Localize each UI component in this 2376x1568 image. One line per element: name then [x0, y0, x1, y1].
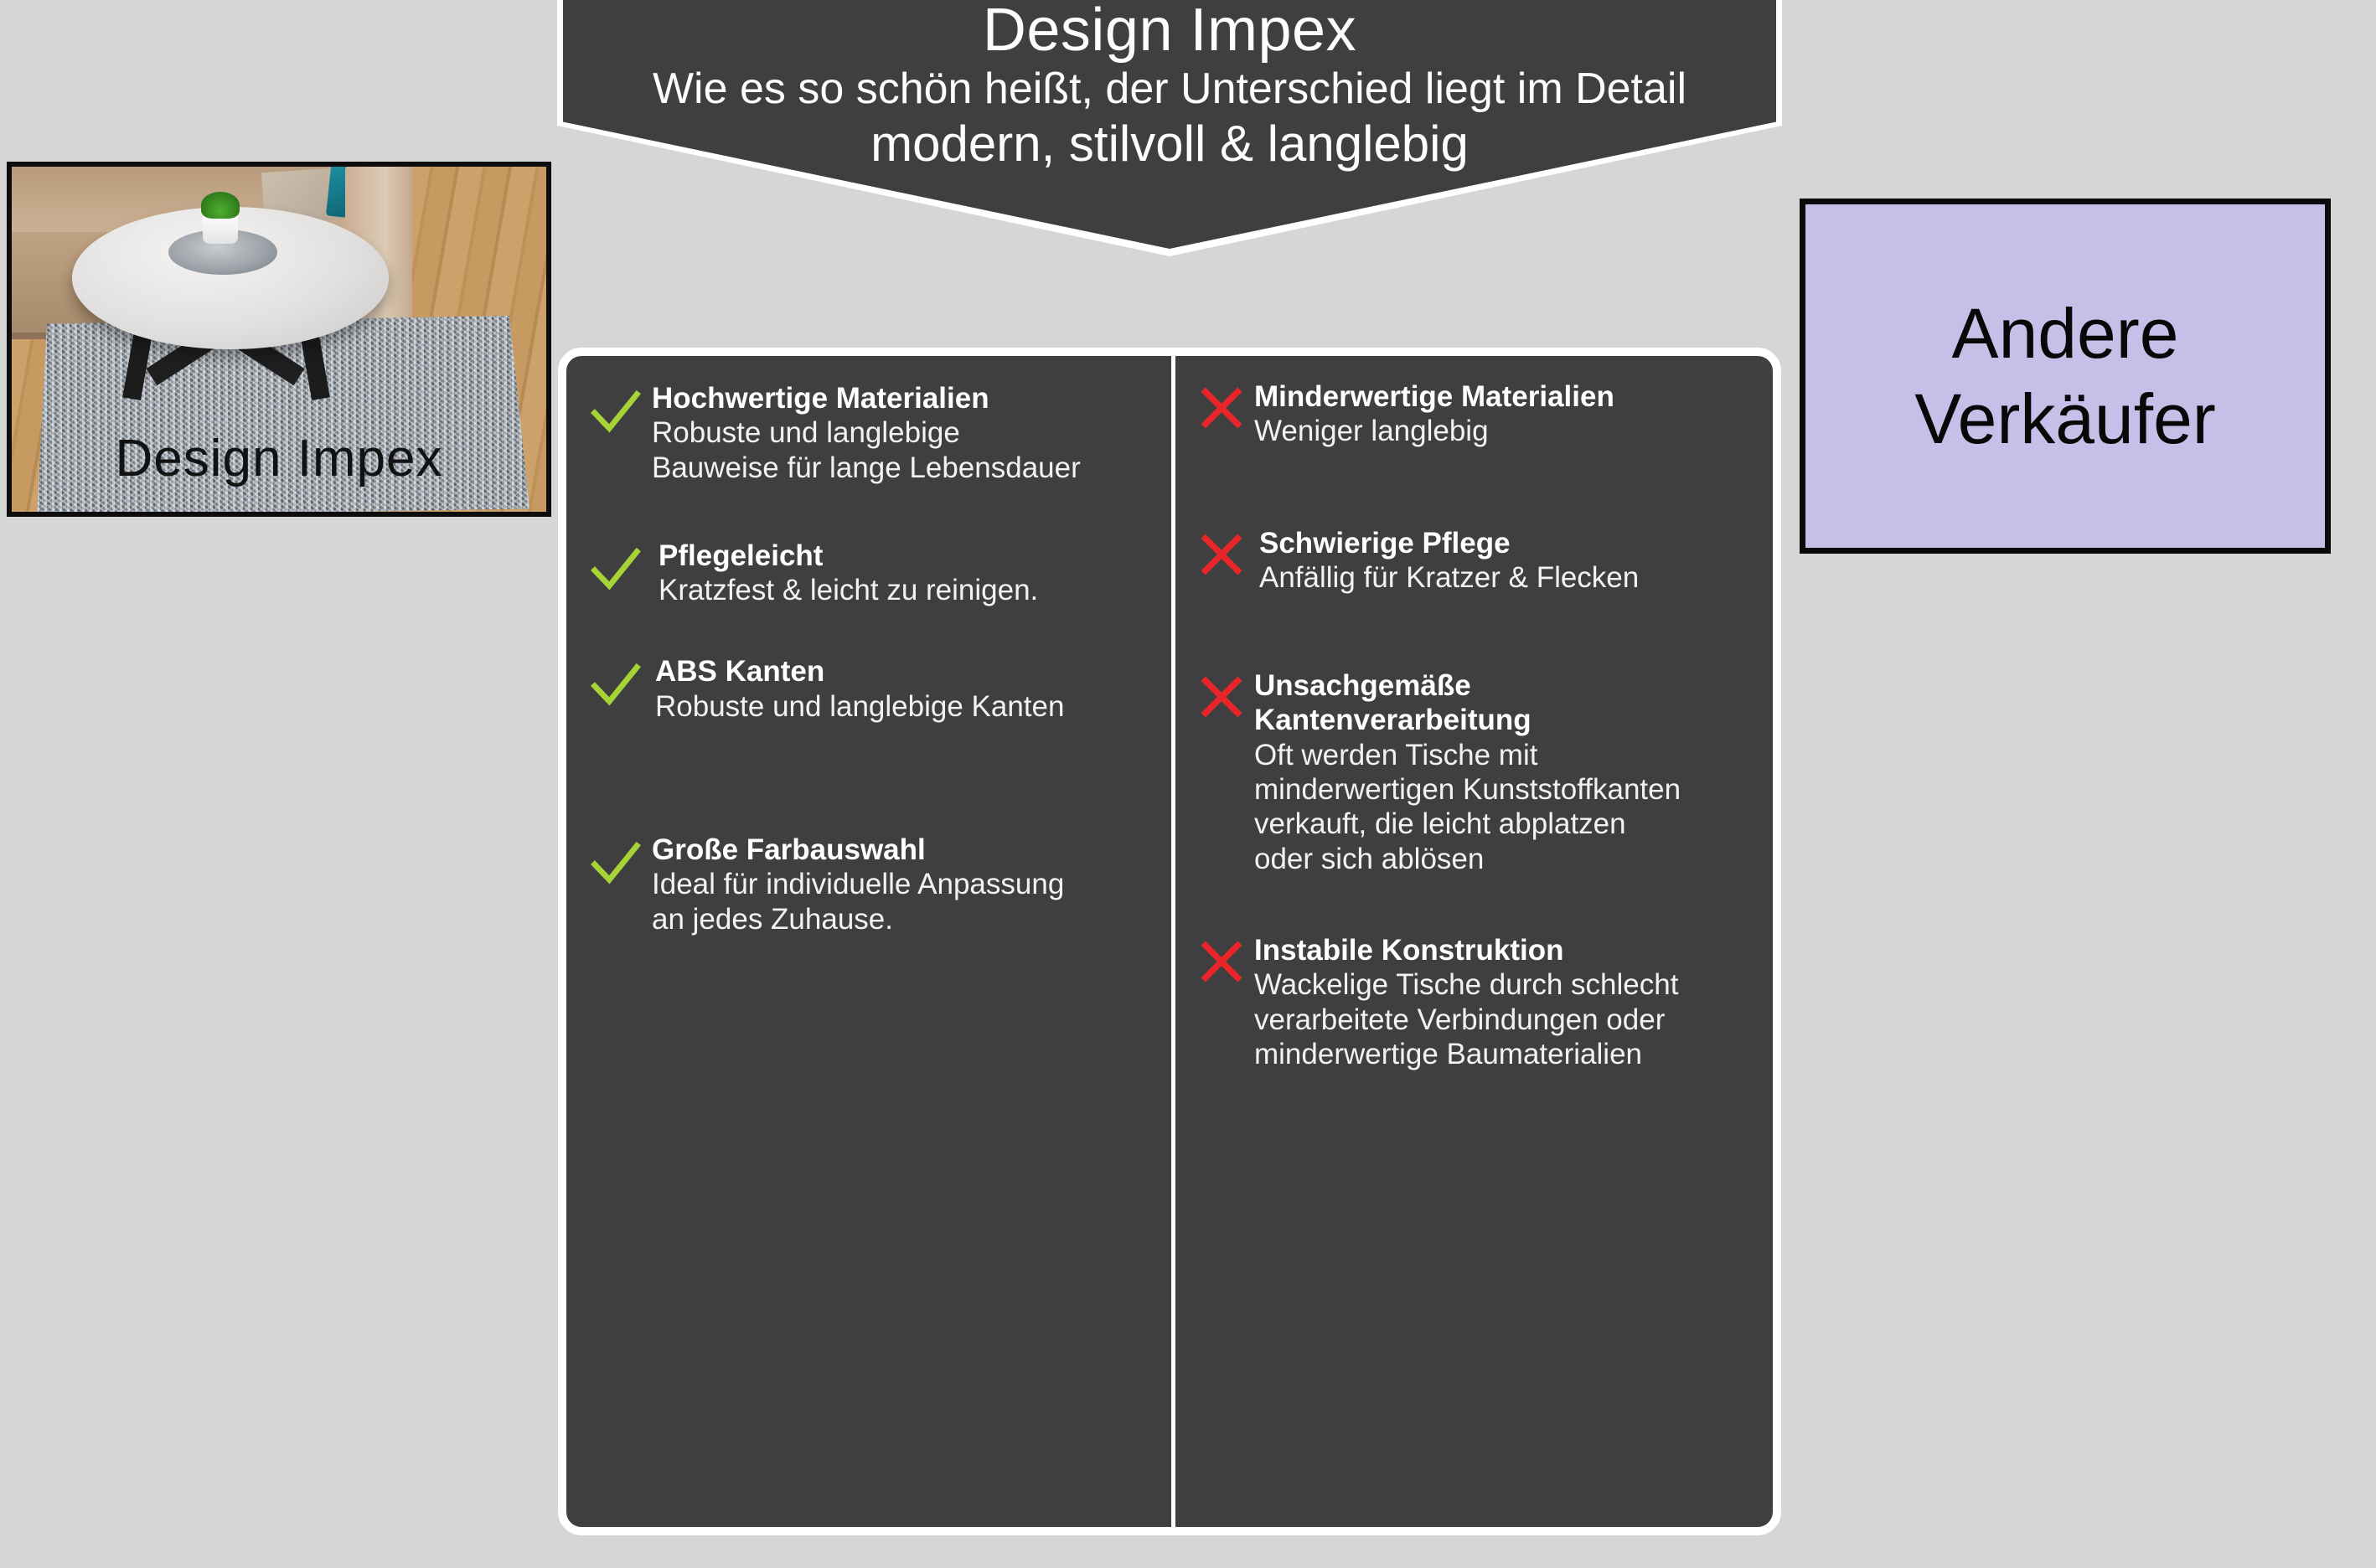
list-item-body: Minderwertige Materialien Weniger langle…	[1254, 379, 1759, 449]
cross-icon	[1198, 531, 1245, 578]
cross-icon-wrap	[1189, 668, 1254, 720]
list-item-title: Instabile Konstruktion	[1254, 933, 1759, 967]
pros-column: Hochwertige Materialien Robuste und lang…	[566, 356, 1171, 1527]
check-icon-wrap	[580, 833, 652, 890]
list-item-title: Schwierige Pflege	[1259, 526, 1759, 560]
list-item-title: Große Farbauswahl	[652, 833, 1158, 867]
list-item: Minderwertige Materialien Weniger langle…	[1189, 379, 1759, 449]
check-icon-wrap	[580, 539, 652, 596]
cross-icon-wrap	[1189, 379, 1254, 431]
list-item-body: Pflegeleicht Kratzfest & leicht zu reini…	[652, 539, 1158, 608]
header-banner: Design Impex Wie es so schön heißt, der …	[557, 0, 1782, 256]
photo-plant	[201, 192, 240, 219]
brand-tagline-secondary: modern, stilvoll & langlebig	[557, 116, 1782, 172]
list-item-desc: Robuste und langlebige Kanten	[655, 689, 1158, 724]
cross-icon	[1198, 384, 1245, 431]
list-item-desc: Kratzfest & leicht zu reinigen.	[659, 573, 1158, 607]
cross-icon	[1198, 938, 1245, 985]
list-item-desc: Wackelige Tische durch schlecht verarbei…	[1254, 967, 1759, 1071]
other-sellers-label: Andere Verkäufer	[1914, 291, 2216, 462]
list-item: Schwierige Pflege Anfällig für Kratzer &…	[1189, 526, 1759, 596]
list-item-body: Unsachgemäße Kantenverarbeitung Oft werd…	[1254, 668, 1759, 876]
brand-title: Design Impex	[557, 0, 1782, 61]
list-item: ABS Kanten Robuste und langlebige Kanten	[580, 654, 1158, 724]
list-item-desc: Oft werden Tische mit minderwertigen Kun…	[1254, 738, 1759, 876]
cross-icon-wrap	[1189, 933, 1254, 985]
cross-icon	[1198, 673, 1245, 720]
brand-tagline-primary: Wie es so schön heißt, der Unterschied l…	[557, 64, 1782, 113]
check-icon	[590, 386, 642, 438]
list-item-title: Hochwertige Materialien	[652, 381, 1158, 415]
list-item-title: Minderwertige Materialien	[1254, 379, 1759, 414]
list-item: Große Farbauswahl Ideal für individuelle…	[580, 833, 1158, 936]
list-item-desc: Weniger langlebig	[1254, 414, 1759, 448]
comparison-panel: Hochwertige Materialien Robuste und lang…	[558, 348, 1781, 1535]
list-item: Hochwertige Materialien Robuste und lang…	[580, 381, 1158, 485]
banner-text-block: Design Impex Wie es so schön heißt, der …	[557, 0, 1782, 172]
list-item-desc: Ideal für individuelle Anpassung an jede…	[652, 867, 1158, 936]
list-item: Pflegeleicht Kratzfest & leicht zu reini…	[580, 539, 1158, 608]
list-item-body: Hochwertige Materialien Robuste und lang…	[652, 381, 1158, 485]
cross-icon-wrap	[1189, 526, 1254, 578]
check-icon	[590, 659, 642, 711]
list-item: Instabile Konstruktion Wackelige Tische …	[1189, 933, 1759, 1071]
list-item: Unsachgemäße Kantenverarbeitung Oft werd…	[1189, 668, 1759, 876]
list-item-title: Unsachgemäße Kantenverarbeitung	[1254, 668, 1759, 738]
check-icon	[590, 544, 642, 596]
list-item-desc: Robuste und langlebige Bauweise für lang…	[652, 415, 1158, 485]
check-icon-wrap	[580, 381, 652, 438]
list-item-body: Instabile Konstruktion Wackelige Tische …	[1254, 933, 1759, 1071]
list-item-desc: Anfällig für Kratzer & Flecken	[1259, 560, 1759, 595]
list-item-body: Schwierige Pflege Anfällig für Kratzer &…	[1254, 526, 1759, 596]
check-icon	[590, 838, 642, 890]
check-icon-wrap	[580, 654, 652, 711]
list-item-title: ABS Kanten	[655, 654, 1158, 689]
list-item-body: Große Farbauswahl Ideal für individuelle…	[652, 833, 1158, 936]
cons-column: Minderwertige Materialien Weniger langle…	[1171, 356, 1773, 1527]
list-item-body: ABS Kanten Robuste und langlebige Kanten	[652, 654, 1158, 724]
photo-watermark: Design Impex	[12, 429, 546, 488]
list-item-title: Pflegeleicht	[659, 539, 1158, 573]
other-sellers-box: Andere Verkäufer	[1800, 199, 2331, 554]
product-photo: Design Impex	[7, 162, 551, 517]
